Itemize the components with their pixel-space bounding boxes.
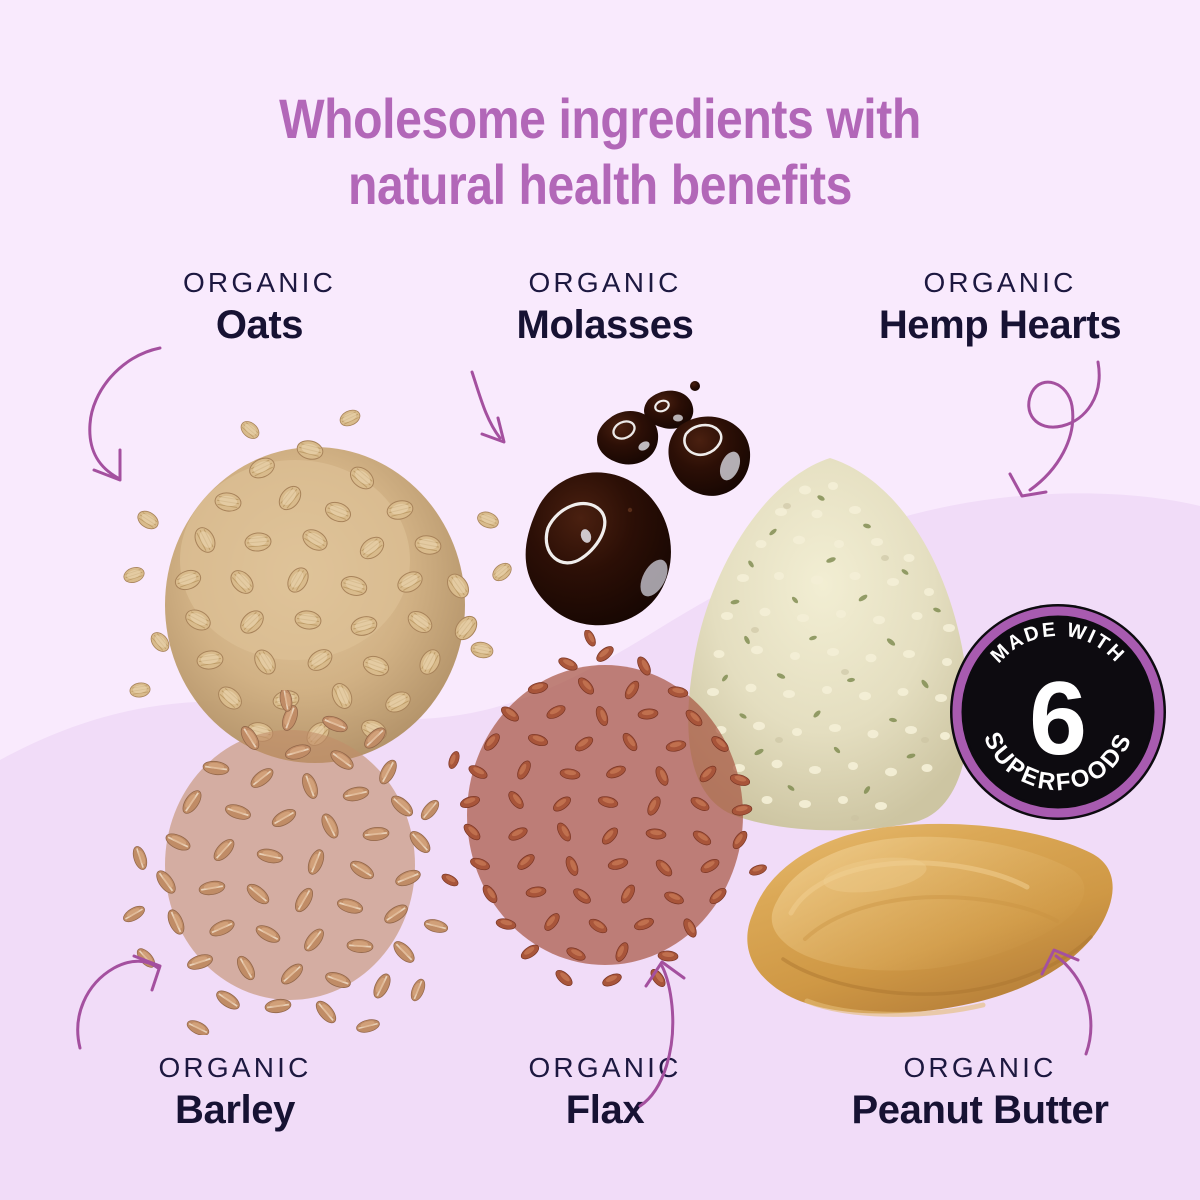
flax-image xyxy=(440,630,770,1000)
label-peanut-butter-name: Peanut Butter xyxy=(760,1086,1200,1135)
badge-number: 6 xyxy=(1029,661,1087,777)
label-molasses-eyebrow: ORGANIC xyxy=(400,268,810,299)
label-hemp-hearts: ORGANIC Hemp Hearts xyxy=(800,268,1200,350)
label-flax-name: Flax xyxy=(390,1086,820,1135)
label-barley-name: Barley xyxy=(25,1086,445,1135)
label-flax: ORGANIC Flax xyxy=(390,1053,820,1135)
label-barley-eyebrow: ORGANIC xyxy=(25,1053,445,1084)
infographic-canvas: Wholesome ingredients with natural healt… xyxy=(0,0,1200,1200)
peanut-butter-image xyxy=(735,805,1115,1035)
page-title-line-1: Wholesome ingredients with xyxy=(279,87,921,150)
label-barley: ORGANIC Barley xyxy=(25,1053,445,1135)
label-molasses: ORGANIC Molasses xyxy=(400,268,810,350)
label-peanut-butter-eyebrow: ORGANIC xyxy=(760,1053,1200,1084)
made-with-6-superfoods-badge: MADE WITH 6 SUPERFOODS xyxy=(948,602,1168,822)
barley-image xyxy=(120,690,450,1035)
label-hemp-hearts-name: Hemp Hearts xyxy=(800,301,1200,350)
page-title: Wholesome ingredients with natural healt… xyxy=(84,86,1116,218)
label-flax-eyebrow: ORGANIC xyxy=(390,1053,820,1084)
label-molasses-name: Molasses xyxy=(400,301,810,350)
label-hemp-hearts-eyebrow: ORGANIC xyxy=(800,268,1200,299)
label-peanut-butter: ORGANIC Peanut Butter xyxy=(760,1053,1200,1135)
page-title-line-2: natural health benefits xyxy=(84,152,1116,218)
